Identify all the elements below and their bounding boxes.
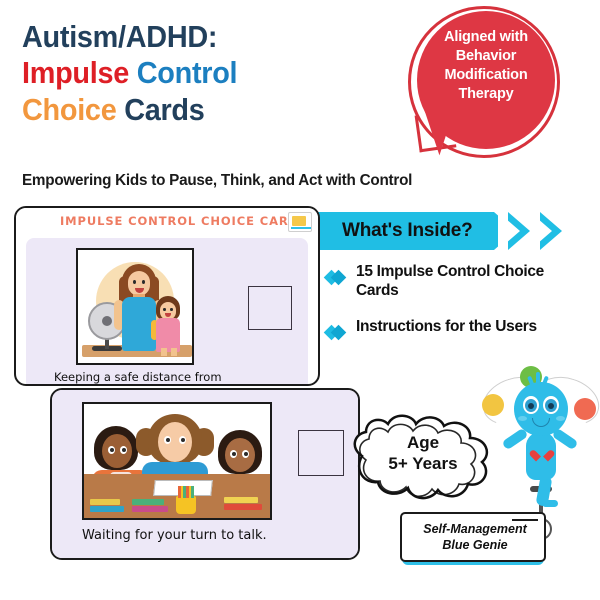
juggling-ball-red-icon: [574, 398, 596, 420]
title-block: Autism/ADHD: Impulse Control Choice Card…: [22, 22, 382, 131]
brand-line-2: Blue Genie: [402, 537, 548, 553]
juggling-ball-yellow-icon: [482, 394, 504, 416]
whats-inside-heading: What's Inside?: [342, 220, 473, 242]
card2-illustration: [82, 402, 272, 520]
card1-response-box: [248, 286, 292, 330]
list-item-label: 15 Impulse Control Choice Cards: [356, 262, 576, 300]
logo-dash-divider: [512, 519, 538, 521]
card1-illustration: [76, 248, 194, 365]
card2-caption: Waiting for your turn to talk.: [82, 528, 267, 543]
list-item-label: Instructions for the Users: [356, 317, 576, 336]
card1-body: Keeping a safe distance from: [26, 238, 308, 384]
badge-line-1: Aligned with: [417, 28, 555, 47]
title-word-impulse: Impulse: [22, 55, 129, 90]
aligned-badge: Aligned with Behavior Modification Thera…: [408, 6, 578, 171]
card2-response-box: [298, 430, 344, 476]
chevron-right-icon-2: [540, 212, 562, 250]
diamond-bullet-icon: [326, 271, 350, 285]
chevron-right-icon-1: [508, 212, 530, 250]
badge-line-3: Modification: [417, 66, 555, 85]
whats-inside-list: 15 Impulse Control Choice Cards Instruct…: [326, 262, 576, 354]
card1-logo-thumbnail-icon: [288, 212, 312, 232]
whats-inside-banner: What's Inside?: [318, 212, 494, 250]
subtitle: Empowering Kids to Pause, Think, and Act…: [22, 172, 412, 190]
card1-header: IMPULSE CONTROL CHOICE CARDS: [16, 208, 318, 238]
title-word-choice: Choice: [22, 92, 116, 127]
title-line-3: Choice Cards: [22, 95, 357, 125]
card-preview-2: Waiting for your turn to talk.: [50, 388, 360, 560]
badge-text: Aligned with Behavior Modification Thera…: [417, 28, 555, 105]
list-item: Instructions for the Users: [326, 317, 576, 336]
blue-genie-mascot-icon: [478, 368, 600, 518]
card1-caption: Keeping a safe distance from: [54, 370, 222, 384]
brand-logo-text: Self-Management Blue Genie: [402, 521, 548, 554]
card2-body: Waiting for your turn to talk.: [52, 390, 358, 558]
badge-line-2: Behavior: [417, 47, 555, 66]
title-line-1: Autism/ADHD:: [22, 22, 357, 52]
title-line-2: Impulse Control: [22, 58, 357, 88]
heart-icon: [535, 448, 549, 462]
title-word-cards: Cards: [124, 92, 204, 127]
title-word-control: Control: [137, 55, 238, 90]
badge-line-4: Therapy: [417, 85, 555, 104]
card-preview-1: IMPULSE CONTROL CHOICE CARDS Keeping: [14, 206, 320, 386]
brand-line-1: Self-Management: [402, 521, 548, 537]
list-item: 15 Impulse Control Choice Cards: [326, 262, 576, 300]
diamond-bullet-icon: [326, 326, 350, 340]
card1-header-title: IMPULSE CONTROL CHOICE CARDS: [60, 214, 308, 228]
